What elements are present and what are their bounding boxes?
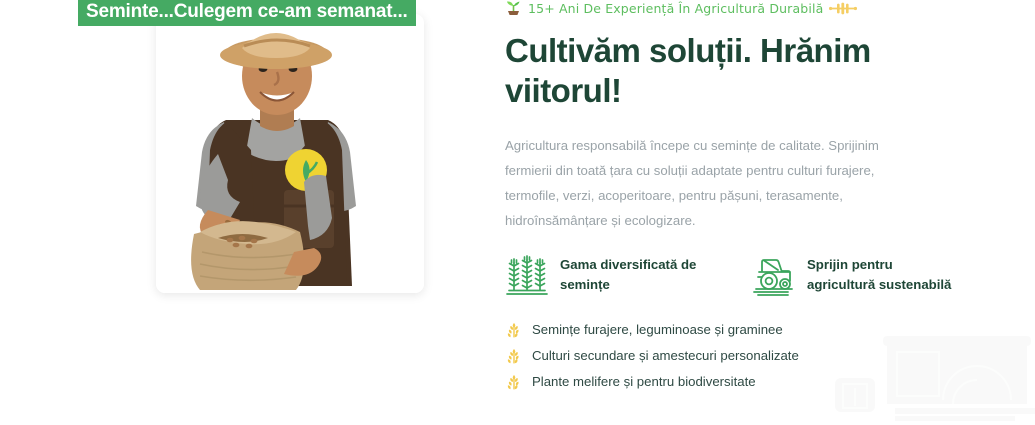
wheat-ear-bullet-icon: [505, 373, 523, 391]
wheat-stalks-icon: [505, 255, 549, 297]
eyebrow-row: 15+ Ani De Experiență În Agricultură Dur…: [505, 0, 975, 16]
list-item: Culturi secundare și amestecuri personal…: [505, 343, 975, 369]
feature-label: Gama diversificată de semințe: [560, 255, 710, 295]
seedling-icon: [505, 0, 522, 16]
list-item-label: Culturi secundare și amestecuri personal…: [532, 347, 799, 365]
farmer-with-seed-sack-photo: [156, 14, 424, 293]
feature-label: Sprijin pentru agricultură sustenabilă: [807, 255, 957, 295]
wheat-ear-divider-icon: [829, 2, 857, 15]
page-title: Cultivăm soluții. Hrănim viitorul!: [505, 31, 905, 111]
list-item: Semințe furajere, leguminoase și gramine…: [505, 317, 975, 343]
list-item-label: Plante melifere și pentru biodiversitate: [532, 373, 756, 391]
wheat-ear-bullet-icon: [505, 321, 523, 339]
hero-image-card: [156, 14, 424, 293]
feature-sustainable-support: Sprijin pentru agricultură sustenabilă: [752, 255, 957, 297]
feature-seed-range: Gama diversificată de semințe: [505, 255, 710, 297]
list-item-label: Semințe furajere, leguminoase și gramine…: [532, 321, 783, 339]
hero-media-column: Seminte...Culegem ce-am semanat...: [0, 0, 480, 425]
list-item: Plante melifere și pentru biodiversitate: [505, 369, 975, 395]
tractor-icon: [752, 255, 796, 297]
feature-row: Gama diversificată de semințe: [505, 255, 975, 297]
hero-description: Agricultura responsabilă începe cu semin…: [505, 133, 897, 233]
wheat-ear-bullet-icon: [505, 347, 523, 365]
hero-section: Seminte...Culegem ce-am semanat...: [0, 0, 1035, 425]
hero-content-column: 15+ Ani De Experiență În Agricultură Dur…: [505, 0, 975, 395]
eyebrow-text: 15+ Ani De Experiență În Agricultură Dur…: [528, 1, 823, 16]
benefits-list: Semințe furajere, leguminoase și gramine…: [505, 317, 975, 395]
promo-banner: Seminte...Culegem ce-am semanat...: [78, 0, 416, 26]
